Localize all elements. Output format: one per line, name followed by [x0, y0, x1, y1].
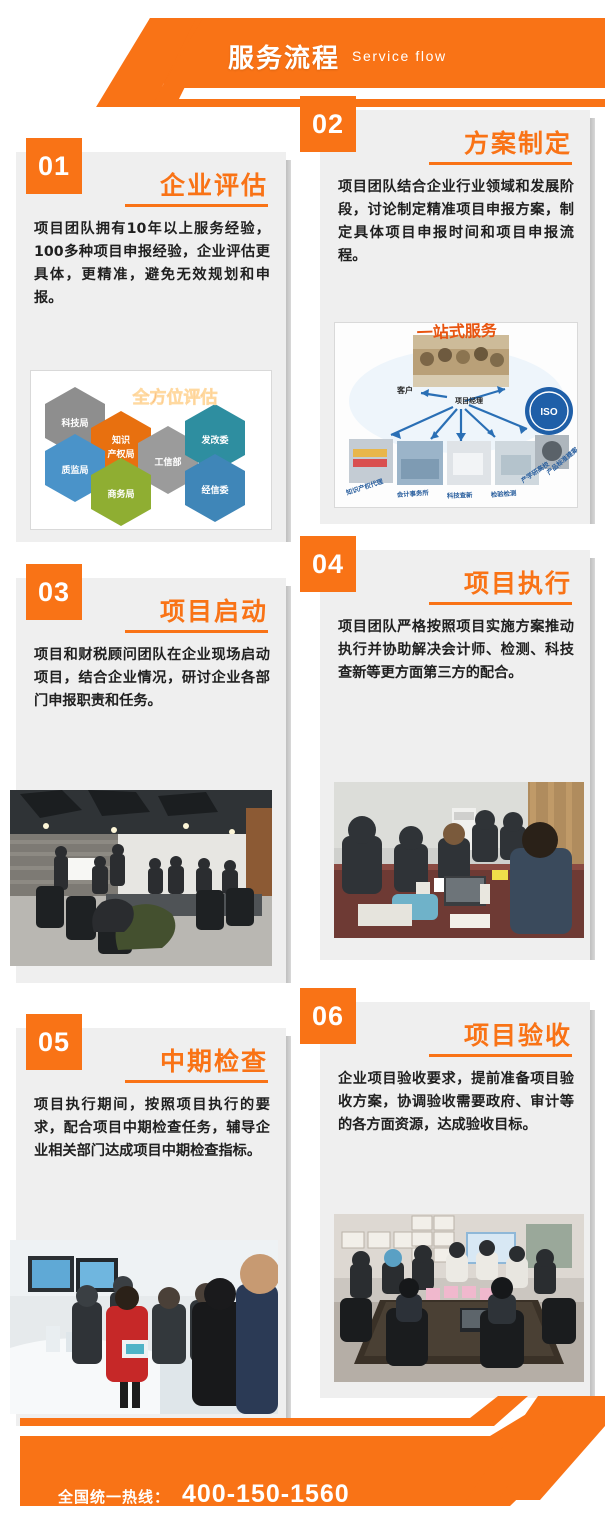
card-03-photo — [10, 790, 272, 966]
footer-chevron-decoration — [0, 1396, 605, 1538]
card-01-media-hexagon-diagram: 科技局 知识 产权局 质监局 工信部 商务局 发改委 — [30, 370, 272, 530]
service-flow-infographic: 服务流程 Service flow 01 企业评估 项目团队拥有10年以上服务经… — [0, 0, 605, 1538]
card-06-title-rule — [429, 1054, 572, 1057]
hex-label-0: 科技局 — [61, 417, 88, 428]
card-06-body: 企业项目验收要求，提前准备项目验收方案，协调验收需要政府、审计等的各方面资源，达… — [338, 1068, 574, 1137]
card-05-title: 中期检查 — [160, 1042, 268, 1078]
page-title: 服务流程 — [228, 38, 340, 75]
acceptance-meeting-photo — [334, 1214, 584, 1382]
card-05-body: 项目执行期间，按照项目执行的要求，配合项目中期检查任务，辅导企业相关部门达成项目… — [34, 1094, 270, 1163]
service-diagram-center-label-0: 客户 — [396, 385, 413, 395]
hex-label-4: 商务局 — [107, 488, 134, 499]
card-01-body: 项目团队拥有10年以上服务经验，100多种项目申报经验，企业评估更具体，更精准，… — [34, 218, 270, 310]
office-meeting-photo — [334, 782, 584, 938]
card-06-number: 06 — [300, 988, 356, 1044]
service-diagram: 客户 项目经理 — [335, 323, 578, 508]
card-04-photo — [334, 782, 584, 938]
showroom-visit-photo — [10, 1240, 278, 1414]
card-05-photo — [10, 1240, 278, 1414]
card-05-number: 05 — [26, 1014, 82, 1070]
card-04[interactable]: 04 项目执行 项目团队严格按照项目实施方案推动执行并协助解决会计师、检测、科技… — [320, 550, 590, 960]
card-04-number: 04 — [300, 536, 356, 592]
page-subtitle: Service flow — [352, 48, 447, 64]
card-06-title: 项目验收 — [464, 1016, 572, 1052]
card-01-title-rule — [125, 204, 268, 207]
card-01-title: 企业评估 — [160, 166, 268, 202]
card-03-title-rule — [125, 630, 268, 633]
hotline-label: 全国统一热线： — [58, 1486, 170, 1507]
card-06-photo — [334, 1214, 584, 1382]
hex-label-2: 质监局 — [61, 464, 88, 475]
hotline-number[interactable]: 400-150-1560 — [182, 1480, 350, 1509]
card-02-title-rule — [429, 162, 572, 165]
card-02-body: 项目团队结合企业行业领域和发展阶段，讨论制定精准项目申报方案，制定具体项目申报时… — [338, 176, 574, 268]
card-03[interactable]: 03 项目启动 项目和财税顾问团队在企业现场启动项目，结合企业情况，研讨企业各部… — [16, 578, 286, 983]
iso-seal-icon: ISO — [525, 387, 573, 435]
svg-text:知识: 知识 — [111, 434, 130, 445]
card-03-body: 项目和财税顾问团队在企业现场启动项目，结合企业情况，研讨企业各部门申报职责和任务… — [34, 644, 270, 713]
card-02-title: 方案制定 — [464, 124, 572, 160]
card-01[interactable]: 01 企业评估 项目团队拥有10年以上服务经验，100多种项目申报经验，企业评估… — [16, 152, 286, 542]
hexagon-diagram: 科技局 知识 产权局 质监局 工信部 商务局 发改委 — [31, 371, 272, 530]
svg-text:产权局: 产权局 — [107, 448, 134, 459]
card-02-media-service-diagram: 客户 项目经理 — [334, 322, 578, 508]
card-04-title-rule — [429, 602, 572, 605]
card-04-title: 项目执行 — [464, 564, 572, 600]
hex-label-5: 发改委 — [200, 434, 229, 445]
hex-label-3: 工信部 — [154, 456, 181, 467]
card-05[interactable]: 05 中期检查 项目执行期间，按照项目执行的要求，配合项目中期检查任务，辅导企业… — [16, 1028, 286, 1426]
hex-label-6: 经信委 — [201, 484, 229, 495]
svg-text:ISO: ISO — [540, 407, 557, 418]
hexagon-diagram-heading: 全方位评估 — [132, 387, 218, 407]
service-diagram-center-label-1: 项目经理 — [455, 396, 483, 405]
card-04-body: 项目团队严格按照项目实施方案推动执行并协助解决会计师、检测、科技查新等更方面第三… — [338, 616, 574, 685]
meeting-room-photo — [10, 790, 272, 966]
card-01-number: 01 — [26, 138, 82, 194]
card-06[interactable]: 06 项目验收 企业项目验收要求，提前准备项目验收方案，协调验收需要政府、审计等… — [320, 1002, 590, 1398]
card-02[interactable]: 02 方案制定 项目团队结合企业行业领域和发展阶段，讨论制定精准项目申报方案，制… — [320, 110, 590, 524]
card-03-number: 03 — [26, 564, 82, 620]
card-03-title: 项目启动 — [160, 592, 268, 628]
service-diagram-top-photo — [413, 335, 509, 387]
card-02-number: 02 — [300, 96, 356, 152]
card-05-title-rule — [125, 1080, 268, 1083]
service-diagram-thumbnails — [349, 435, 569, 485]
service-diagram-heading: 一站式服务 — [416, 323, 498, 342]
